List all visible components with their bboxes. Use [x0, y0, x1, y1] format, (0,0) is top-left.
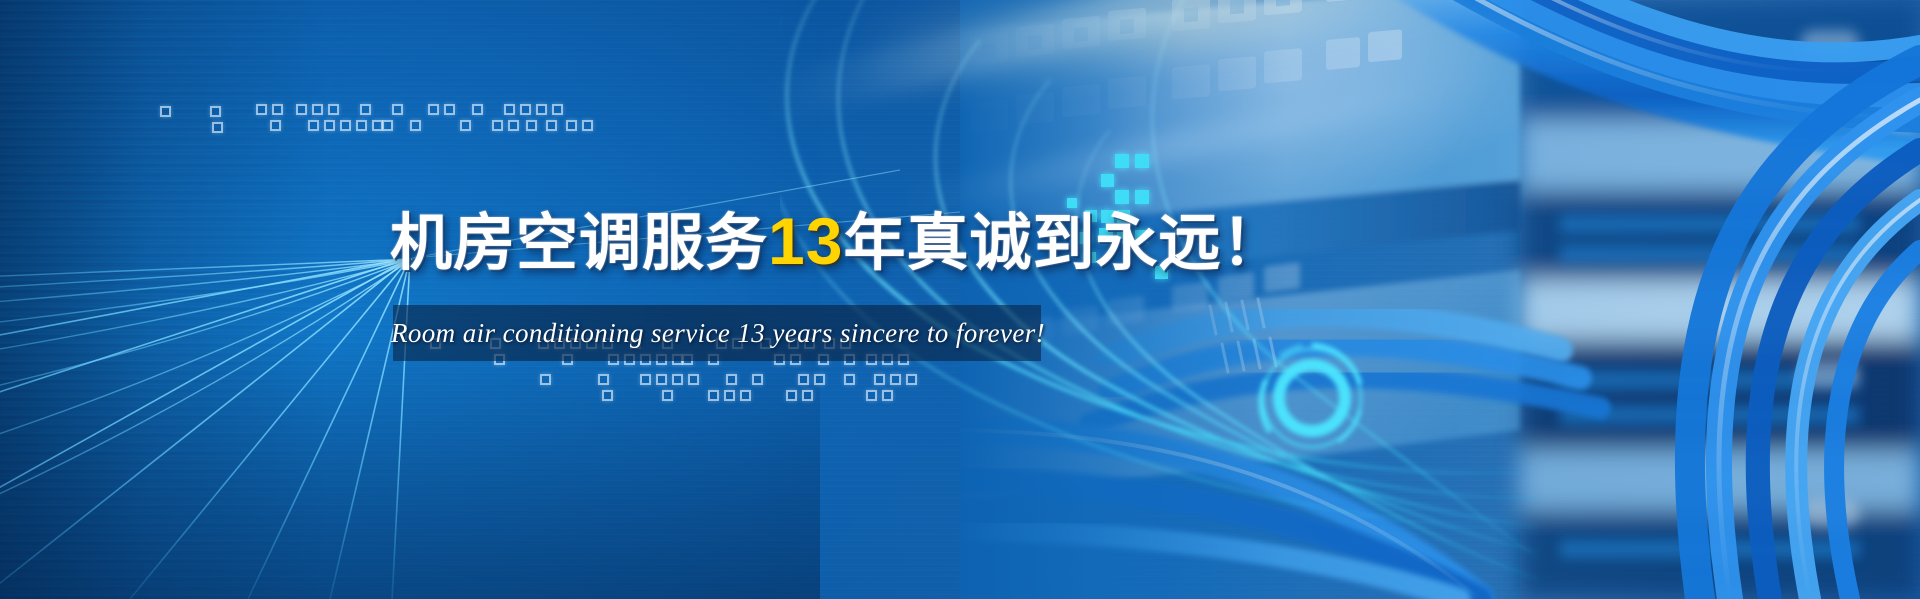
dot-square	[382, 120, 393, 131]
dot-square	[444, 104, 455, 115]
dot-square	[256, 104, 267, 115]
dot-square	[890, 374, 901, 385]
dot-square	[360, 104, 371, 115]
dot-square	[688, 374, 699, 385]
dot-square	[526, 120, 537, 131]
dot-square	[552, 104, 563, 115]
dot-square	[598, 374, 609, 385]
dot-square	[272, 104, 283, 115]
dot-square	[662, 390, 673, 401]
dot-square	[540, 374, 551, 385]
headline-part-1: 机房空调服务	[390, 209, 768, 278]
dot-square	[740, 390, 751, 401]
dot-square	[752, 374, 763, 385]
mosaic-square	[1115, 190, 1129, 204]
dot-square	[328, 104, 339, 115]
headline-part-2: 年真诚到永远！	[843, 209, 1284, 278]
dot-square	[410, 120, 421, 131]
dot-square	[520, 104, 531, 115]
dot-square	[212, 122, 223, 133]
dot-square	[724, 390, 735, 401]
dot-square	[270, 120, 281, 131]
dot-square	[672, 374, 683, 385]
dot-square	[546, 120, 557, 131]
dot-square	[866, 390, 877, 401]
dot-square	[312, 104, 323, 115]
mosaic-square	[1115, 154, 1129, 168]
dot-square	[324, 120, 335, 131]
dot-square	[356, 120, 367, 131]
dot-square	[802, 390, 813, 401]
dot-square	[508, 120, 519, 131]
dot-square	[708, 390, 719, 401]
dot-square	[640, 374, 651, 385]
promo-banner: 机房空调服务13年真诚到永远！ Room air conditioning se…	[0, 0, 1920, 599]
dot-square	[798, 374, 809, 385]
dot-square	[428, 104, 439, 115]
dot-square	[726, 374, 737, 385]
dot-square	[844, 374, 855, 385]
dot-square	[340, 120, 351, 131]
dot-square	[504, 104, 515, 115]
mosaic-square	[1135, 190, 1149, 204]
dot-square	[656, 374, 667, 385]
dot-square	[582, 120, 593, 131]
dot-square	[460, 120, 471, 131]
dot-square	[210, 106, 221, 117]
dot-square	[308, 120, 319, 131]
mosaic-square	[1101, 174, 1114, 187]
dot-square	[602, 390, 613, 401]
dot-square	[566, 120, 577, 131]
headline: 机房空调服务13年真诚到永远！	[390, 205, 1284, 280]
subtitle: Room air conditioning service 13 years s…	[413, 305, 1023, 361]
dot-square	[786, 390, 797, 401]
dot-square	[392, 104, 403, 115]
dot-square	[874, 374, 885, 385]
dot-square	[472, 104, 483, 115]
square-outline-dot-pattern-top	[160, 96, 580, 140]
dot-square	[296, 104, 307, 115]
dot-square	[814, 374, 825, 385]
headline-years-number: 13	[768, 204, 843, 278]
dot-square	[906, 374, 917, 385]
dot-square	[160, 106, 171, 117]
mosaic-square	[1135, 154, 1149, 168]
hud-ring-icon	[1246, 332, 1378, 464]
dot-square	[492, 120, 503, 131]
dot-square	[882, 390, 893, 401]
dot-square	[536, 104, 547, 115]
